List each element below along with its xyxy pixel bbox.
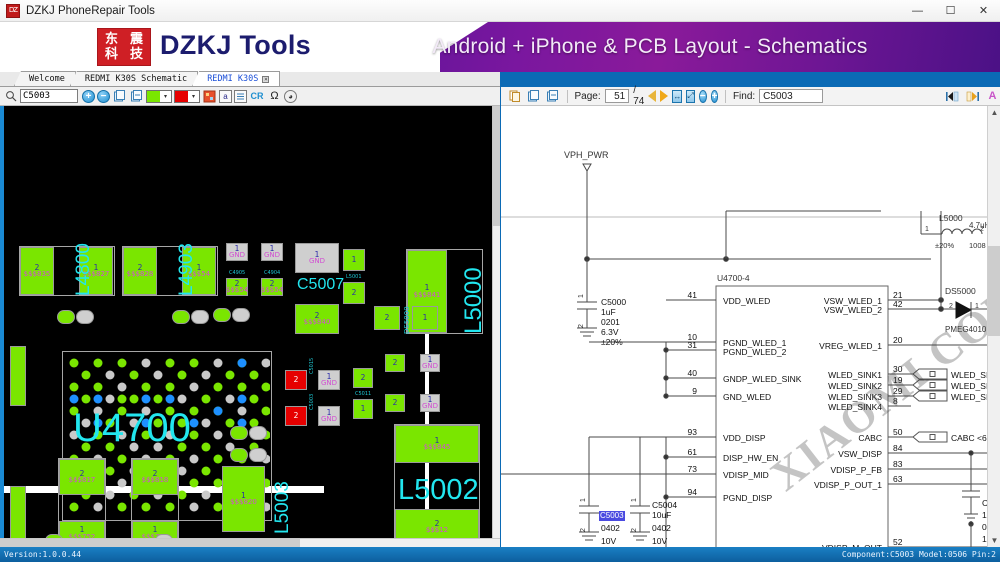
svg-text:2: 2 [980,226,984,233]
pad-net: $$$841 [414,292,441,299]
tab-strip: Welcome REDMI K30S Schematic REDMI K30S … [0,72,500,87]
pad-c4905-2[interactable]: 2 $$$54 [226,278,248,296]
tab-close-icon[interactable]: × [262,76,269,83]
pad-l5001-2[interactable]: 2 [343,282,365,304]
pad-c5003-1[interactable]: 1 GND [318,406,340,426]
page-total-label: / 74 [633,85,644,107]
svg-text:VDISP_MID: VDISP_MID [723,470,769,480]
svg-text:63: 63 [893,474,903,484]
component-label-u4700: U4700 [73,406,191,451]
schematic-vscroll-thumb[interactable] [988,246,1000,336]
pad-color-swatch [147,91,160,102]
pad-net: GND [321,416,337,423]
pad-c5007-1[interactable]: 1 GND [295,243,339,273]
svg-text:31: 31 [688,340,698,350]
svg-text:9: 9 [692,386,697,396]
next-page-icon[interactable] [660,90,668,102]
svg-text:VDISP_P_OUT_1: VDISP_P_OUT_1 [814,480,882,490]
flip-board-icon[interactable] [202,89,217,104]
ref-l5001: L5001 [346,274,362,280]
svg-text:1uF: 1uF [601,307,616,317]
page-number-input[interactable]: 51 [605,89,630,103]
pcb-toolbar: C5003 + − ▾ ▾ a CR Ω ◕ [0,87,500,106]
list-icon[interactable] [234,90,247,103]
svg-text:VDD_WLED: VDD_WLED [723,296,770,306]
pad-c5007-2[interactable]: 2 $$$840 [295,304,339,334]
ref-c4905: C4905 [229,270,245,276]
pad-c5012-1[interactable]: 1 GND [420,354,440,372]
pcb-hscroll-thumb[interactable] [0,539,300,547]
pad-misc-11[interactable] [230,448,248,462]
svg-text:WLED_SINK4: WLED_SINK4 [828,402,882,412]
pad-pin: 2 [393,399,398,407]
pcb-canvas[interactable]: 2 $$$835 1 $$$827 L4800 2 $$$828 1 $$$54… [0,106,492,538]
pad-net: $$$820 [230,499,257,506]
svg-text:C5004: C5004 [652,500,677,510]
pad-c5012-2[interactable]: 2 [385,354,405,372]
pcb-zoom-out-button[interactable]: − [97,90,110,103]
svg-text:PGND_WLED_2: PGND_WLED_2 [723,347,787,357]
copy-icon[interactable] [507,89,522,104]
pad-l4903-2[interactable]: 2 $$$828 [123,247,157,295]
board-edge-left [0,106,4,538]
svg-text:WLED_SINK2: WLED_SINK2 [951,381,987,391]
pad-net: $$$845 [424,444,451,451]
fit-horizontal-icon[interactable]: ↔ [672,90,682,103]
pad-pin: 2 [352,289,357,297]
svg-text:1: 1 [578,294,585,298]
pad-net: $$$12 [426,527,448,534]
pad-misc-10[interactable] [249,426,267,440]
logo-char-3: 技 [124,47,149,62]
maximize-button[interactable]: ☐ [934,0,967,22]
svg-text:50: 50 [893,427,903,437]
schematic-highlight-c5003: C5003 [599,511,625,521]
svg-text:VPH_PWR: VPH_PWR [564,150,609,160]
search-icon[interactable] [3,89,18,104]
pad-net: $$$54 [261,287,283,294]
pad-pin: 1 [423,314,428,322]
svg-text:1: 1 [580,498,587,502]
tab-redmi-k30s-schematic-label: REDMI K30S Schematic [85,74,187,84]
fit-width-icon[interactable] [129,89,144,104]
svg-text:2: 2 [578,324,585,328]
pad-color-picker[interactable]: ▾ [146,90,172,103]
svg-text:±20%: ±20% [935,241,954,250]
svg-text:L5000: L5000 [939,213,963,223]
ref-c5003-highlight: C5003 [309,394,315,410]
brand-title: DZKJ Tools [160,30,311,61]
svg-text:10uF: 10uF [652,510,671,520]
pad-misc-2[interactable] [76,310,94,324]
tab-redmi-k30s[interactable]: REDMI K30S × [192,71,280,86]
svg-text:73: 73 [688,464,698,474]
component-label-l4800: L4800 [73,243,95,296]
svg-text:VSW_WLED_2: VSW_WLED_2 [824,305,882,315]
schematic-zoom-out-button[interactable]: − [699,90,707,103]
tab-welcome[interactable]: Welcome [14,71,76,86]
logo-char-2: 科 [99,47,124,62]
highlight-color-dropdown-icon[interactable]: ▾ [188,93,199,100]
component-label-c5007: C5007 [297,276,344,294]
pad-misc-12[interactable] [249,448,267,462]
find-prev-icon[interactable] [945,89,960,104]
pad-misc-1[interactable] [57,310,75,324]
ohm-mode-button[interactable]: Ω [267,89,282,104]
tab-redmi-k30s-schematic[interactable]: REDMI K30S Schematic [70,71,198,86]
pcb-layout-panel[interactable]: 2 $$$835 1 $$$827 L4800 2 $$$828 1 $$$54… [0,106,500,547]
tab-redmi-k30s-label: REDMI K30S [207,74,258,84]
pcb-horizontal-scrollbar[interactable] [0,538,500,547]
pad-net: $$$840 [304,319,331,326]
svg-text:VDD_DISP: VDD_DISP [723,433,766,443]
highlight-color-picker[interactable]: ▾ [174,90,200,103]
svg-text:84: 84 [893,443,903,453]
svg-text:DISP_HW_EN: DISP_HW_EN [723,453,778,463]
svg-text:WLED_SINK3: WLED_SINK3 [828,392,882,402]
pad-misc-4[interactable] [191,310,209,324]
component-label-l4903: L4903 [176,243,198,296]
scroll-down-arrow-icon[interactable]: ▼ [988,534,1000,547]
pad-l4800-2[interactable]: 2 $$$835 [20,247,54,295]
svg-text:2: 2 [631,528,638,532]
pad-pin: 2 [385,314,390,322]
pad-c5011-1[interactable]: 1 [353,399,373,419]
svg-text:52: 52 [893,537,903,547]
schematic-panel[interactable]: VPH_PWR 1 2 [501,106,1000,547]
svg-text:VDISP_P_FB: VDISP_P_FB [831,465,883,475]
ref-c4904: C4904 [264,270,280,276]
highlight-color-swatch [175,91,188,102]
tab-welcome-label: Welcome [29,74,65,84]
pad-net: $$$835 [24,271,51,278]
svg-text:U4700-4: U4700-4 [717,273,750,283]
svg-text:0201: 0201 [601,317,620,327]
svg-text:93: 93 [688,427,698,437]
svg-text:WLED_SINK1: WLED_SINK1 [951,370,987,380]
pad-misc-6[interactable] [232,308,250,322]
svg-text:83: 83 [893,459,903,469]
pad-net: $$$818 [142,477,169,484]
svg-text:40: 40 [688,368,698,378]
svg-text:8: 8 [893,396,898,406]
pad-misc-5[interactable] [213,308,231,322]
svg-text:61: 61 [688,447,698,457]
page-label: Page: [574,91,600,102]
schematic-drawing[interactable]: VPH_PWR 1 2 [501,106,987,547]
pad-pin: 1 [352,256,357,264]
pad-c4904-2[interactable]: 2 $$$54 [261,278,283,296]
pad-c7518-2[interactable]: 2 [385,394,405,412]
pad-net: $$$54 [226,287,248,294]
svg-text:GND_WLED: GND_WLED [723,392,771,402]
svg-text:WLED_SINK3: WLED_SINK3 [951,392,987,402]
svg-text:0402: 0402 [652,523,671,533]
pad-ds5000-2[interactable]: 2 [374,306,400,330]
svg-text:10V: 10V [601,536,616,546]
find-style-icon[interactable]: A [985,89,1000,104]
schematic-toolbar: Page: 51 / 74 ↔ ⤢ − + Find: C5003 A [501,87,1000,106]
svg-text:1008: 1008 [969,241,986,250]
svg-text:10V: 10V [652,536,667,546]
pad-c5004-1[interactable]: 1 GND [318,370,340,390]
pad-net: GND [309,258,325,265]
pad-net: GND [229,252,245,259]
version-label: Version:1.0.0.44 [4,550,81,559]
pad-l5003-1[interactable]: 1 $$$820 [222,466,265,532]
pad-pin: 1 [361,405,366,413]
prev-page-icon[interactable] [648,90,656,102]
window-title: DZKJ PhoneRepair Tools [26,5,155,17]
fit-width-icon[interactable] [545,89,560,104]
svg-text:30: 30 [893,364,903,374]
pad-pin: 2 [361,374,366,382]
pad-c4905-1[interactable]: 1 GND [226,243,248,261]
pad-c5004-2-highlight[interactable]: 2 [285,370,307,390]
pad-net: $$$817 [69,477,96,484]
svg-text:29: 29 [893,386,903,396]
component-label-l5003: L5003 [272,481,294,534]
window-titlebar: DZ DZKJ PhoneRepair Tools — ☐ ✕ [0,0,1000,22]
pad-color-dropdown-icon[interactable]: ▾ [160,93,171,100]
buzzer-icon[interactable]: ◕ [284,90,297,103]
component-label-l5002: L5002 [398,474,479,507]
pad-c4904-1[interactable]: 1 GND [261,243,283,261]
pad-misc-3[interactable] [172,310,190,324]
pcb-zoom-in-button[interactable]: + [82,90,95,103]
svg-text:VREG_WLED_1: VREG_WLED_1 [819,341,882,351]
fit-all-icon[interactable]: ⤢ [686,90,694,103]
svg-text:WLED_SINK2: WLED_SINK2 [828,381,882,391]
pcb-vscroll-thumb[interactable] [493,106,500,226]
pad-l4902-2[interactable]: 2 $$$818 [132,459,178,495]
svg-text:2: 2 [580,528,587,532]
svg-text:94: 94 [688,487,698,497]
pad-pin: 2 [393,359,398,367]
ref-ds5000: DS5000 [403,306,411,334]
app-logo-icon: DZ [6,4,20,18]
svg-text:0402: 0402 [601,523,620,533]
svg-text:PGND_DISP: PGND_DISP [723,493,772,503]
pad-net: GND [422,403,438,410]
svg-text:VSW_DISP: VSW_DISP [838,449,882,459]
schematic-vertical-scrollbar[interactable]: ▲ ▼ [987,106,1000,547]
component-label-l5000: L5000 [460,267,488,334]
svg-text:41: 41 [688,290,698,300]
schematic-zoom-in-button[interactable]: + [711,90,719,103]
scroll-up-arrow-icon[interactable]: ▲ [988,106,1000,119]
find-label: Find: [733,91,755,102]
pad-net: $$$828 [127,271,154,278]
pcb-vertical-scrollbar[interactable] [492,106,500,538]
logo-char-1: 震 [124,32,149,47]
status-bar: Version:1.0.0.44 Component:C5003 Model:0… [0,547,1000,562]
svg-text:DS5000: DS5000 [945,286,976,296]
window-controls: — ☐ ✕ [901,0,1000,22]
svg-text:20: 20 [893,335,903,345]
pad-pin: 2 [294,376,299,384]
pad-pin: 2 [294,412,299,420]
pad-misc-13[interactable] [10,346,26,406]
pad-net: GND [264,252,280,259]
pad-l5001-1[interactable]: 1 [343,249,365,271]
svg-text:42: 42 [893,299,903,309]
ref-c5004: C5015 [309,358,315,374]
pcb-search-input[interactable]: C5003 [20,89,78,103]
svg-text:GNDP_WLED_SINK: GNDP_WLED_SINK [723,374,802,384]
fit-page-icon[interactable] [526,89,541,104]
pad-c5011-2[interactable]: 2 [353,368,373,388]
svg-text:CABC: CABC [858,433,882,443]
annotate-icon[interactable]: a [219,90,232,103]
svg-text:1: 1 [925,226,929,233]
pad-net: GND [321,380,337,387]
svg-text:1: 1 [631,498,638,502]
logo-char-0: 东 [99,32,124,47]
pad-ds5000-1[interactable]: 1 [412,306,438,330]
svg-text:±20%: ±20% [601,337,623,347]
pad-c7518-1[interactable]: 1 GND [420,394,440,412]
application-window: DZ DZKJ PhoneRepair Tools — ☐ ✕ 东 震 科 技 … [0,0,1000,562]
close-button[interactable]: ✕ [967,0,1000,22]
find-input[interactable]: C5003 [759,89,823,103]
component-info-label: Component:C5003 Model:0506 Pin:2 [842,550,996,559]
pad-c5003-2-highlight[interactable]: 2 [285,406,307,426]
svg-text:WLED_SINK1: WLED_SINK1 [828,370,882,380]
svg-text:6.3V: 6.3V [601,327,619,337]
minimize-button[interactable]: — [901,0,934,22]
pad-misc-9[interactable] [230,426,248,440]
svg-text:CABC <66>: CABC <66> [951,433,987,443]
pad-misc-14[interactable] [10,486,26,541]
pad-l4901-2[interactable]: 2 $$$817 [59,459,105,495]
ref-c5011: C5011 [355,391,371,397]
find-next-icon[interactable] [965,89,980,104]
svg-text:PMEG4010: PMEG4010 [945,325,987,334]
svg-text:1: 1 [975,303,979,310]
dzkj-logo-icon: 东 震 科 技 [97,28,151,66]
pad-l5002-1[interactable]: 1 $$$845 [395,425,479,463]
svg-text:2: 2 [949,303,953,310]
svg-text:19: 19 [893,375,903,385]
svg-text:C5000: C5000 [601,297,626,307]
cr-mode-button[interactable]: CR [249,89,265,104]
pad-net: GND [422,363,438,370]
fit-page-icon[interactable] [112,89,127,104]
